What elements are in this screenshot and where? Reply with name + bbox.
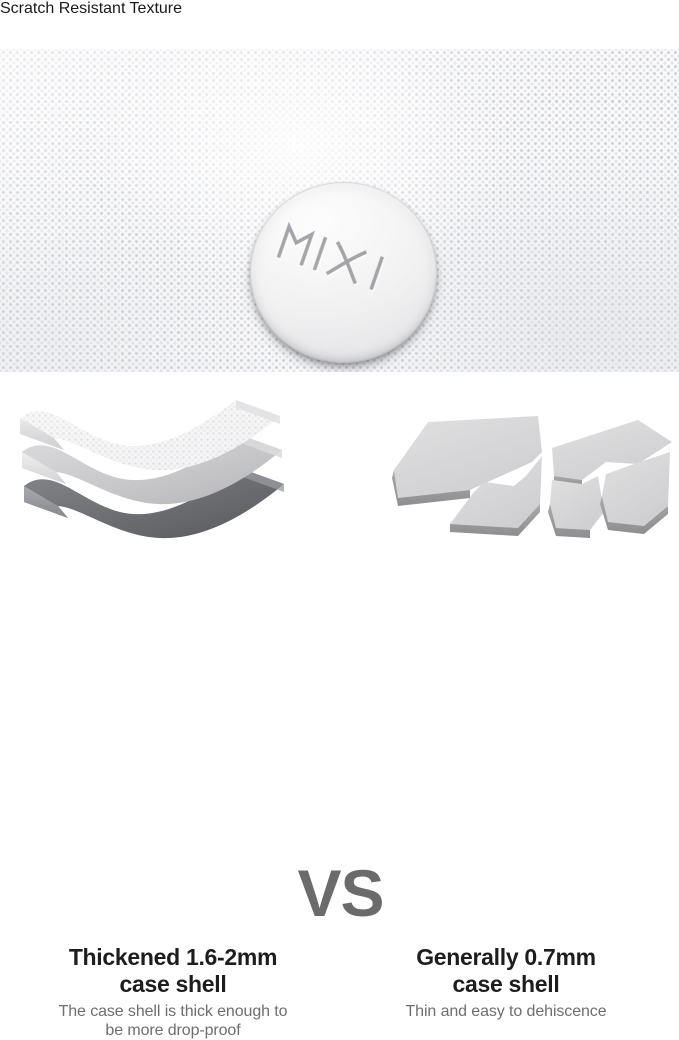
- vs-separator-label: VS: [283, 860, 398, 926]
- left-caption-subtitle: The case shell is thick enough to be mor…: [8, 1002, 338, 1040]
- left-caption-heading-line2: case shell: [8, 971, 338, 998]
- left-caption-subtitle-line2: be more drop-proof: [8, 1021, 338, 1040]
- left-caption-heading-line1: Thickened 1.6-2mm: [8, 944, 338, 971]
- left-caption-subtitle-line1: The case shell is thick enough to: [8, 1002, 338, 1021]
- header-band: Scratch Resistant Texture: [0, 0, 679, 49]
- right-caption-block: Generally 0.7mm case shell Thin and easy…: [341, 944, 671, 1021]
- right-caption-heading-line2: case shell: [341, 971, 671, 998]
- cracked-thin-shell-illustration: [392, 400, 674, 550]
- right-caption-heading: Generally 0.7mm case shell: [341, 944, 671, 998]
- right-caption-heading-line1: Generally 0.7mm: [341, 944, 671, 971]
- hero-product-photo: [0, 49, 679, 372]
- thick-layered-shell-illustration: [8, 390, 298, 555]
- right-caption-subtitle: Thin and easy to dehiscence: [341, 1002, 671, 1021]
- left-caption-block: Thickened 1.6-2mm case shell The case sh…: [8, 944, 338, 1040]
- left-caption-heading: Thickened 1.6-2mm case shell: [8, 944, 338, 998]
- brand-logo-medallion: [250, 182, 437, 363]
- page-title: Scratch Resistant Texture: [0, 0, 679, 18]
- comparison-panel: VS: [0, 372, 679, 664]
